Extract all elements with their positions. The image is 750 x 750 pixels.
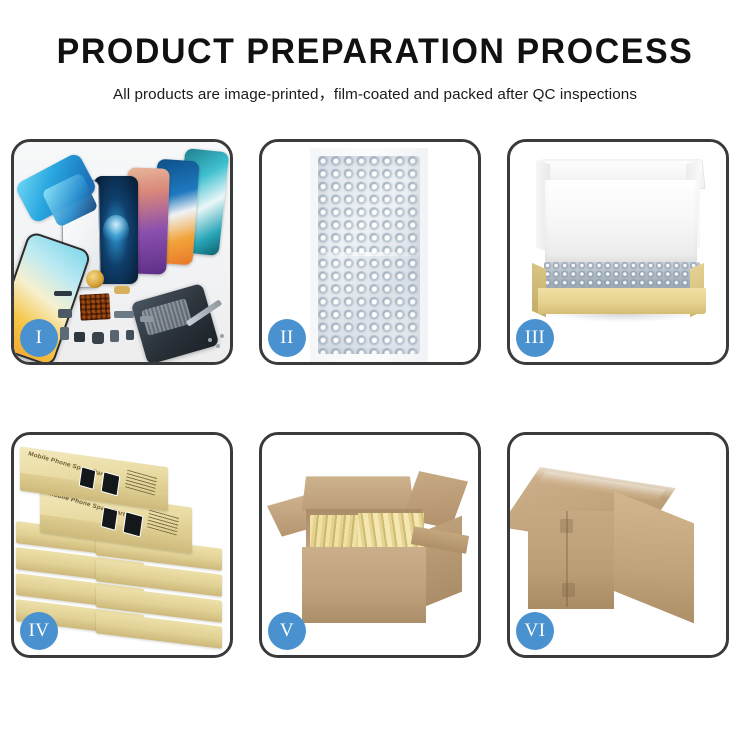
step-badge-1: I [20,319,58,357]
process-step-panel-3[interactable]: III [507,139,729,365]
step-badge-3: III [516,319,554,357]
step-badge-6: VI [516,612,554,650]
step-badge-2: II [268,319,306,357]
process-step-panel-5[interactable]: V [259,432,481,658]
page-header: PRODUCT PREPARATION PROCESS All products… [0,0,750,104]
process-step-panel-6[interactable]: VI [507,432,729,658]
process-step-panel-4[interactable]: Mobile Phone Spare Parts Mobile Phone Sp… [11,432,233,658]
process-step-panel-2[interactable]: II [259,139,481,365]
process-step-panel-1[interactable]: I [11,139,233,365]
page-subtitle: All products are image-printed，film-coat… [0,82,750,104]
process-step-grid: I II III [11,139,739,658]
step-badge-4: IV [20,612,58,650]
step-badge-5: V [268,612,306,650]
page-title: PRODUCT PREPARATION PROCESS [11,34,739,71]
